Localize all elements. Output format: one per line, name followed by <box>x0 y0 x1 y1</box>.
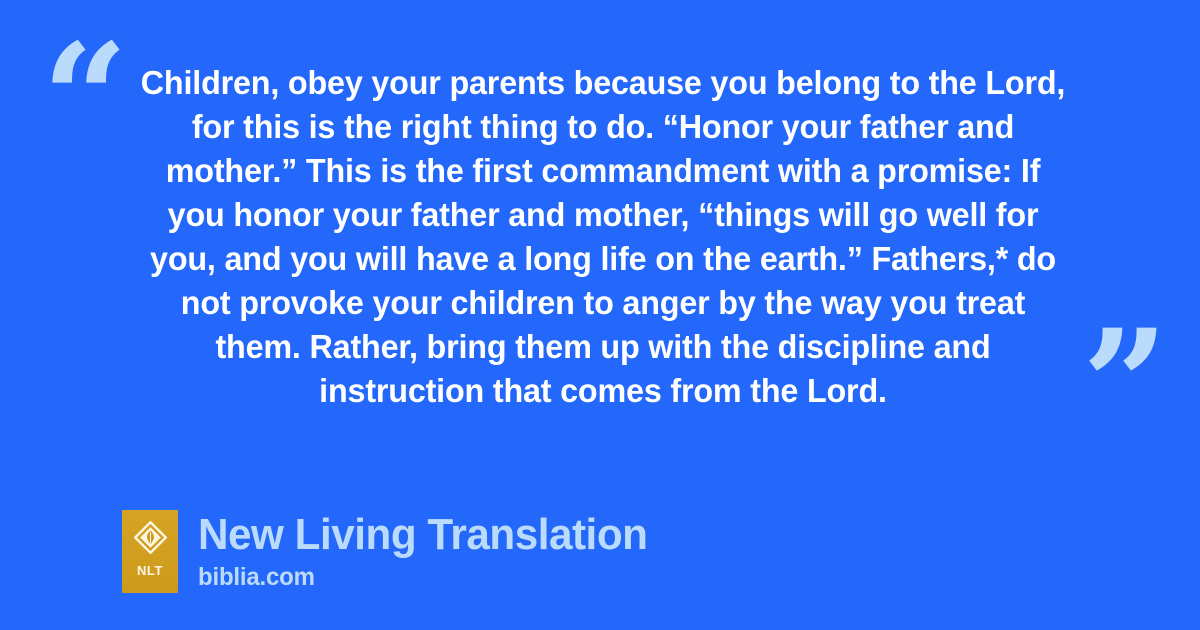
brand-footer[interactable]: NLT New Living Translation biblia.com <box>122 510 666 593</box>
diamond-leaf-icon <box>134 521 167 554</box>
verse-container: Children, obey your parents because you … <box>118 62 1088 422</box>
nlt-badge: NLT <box>122 510 178 593</box>
translation-title: New Living Translation <box>198 510 647 560</box>
verse-share-card: “ ” Children, obey your parents because … <box>0 0 1200 630</box>
verse-text: Children, obey your parents because you … <box>135 62 1071 414</box>
brand-text-block: New Living Translation biblia.com <box>198 510 666 592</box>
site-url[interactable]: biblia.com <box>198 562 647 592</box>
opening-quote-icon: “ <box>42 24 126 174</box>
closing-quote-icon: ” <box>1082 310 1166 460</box>
badge-code-label: NLT <box>137 564 163 577</box>
